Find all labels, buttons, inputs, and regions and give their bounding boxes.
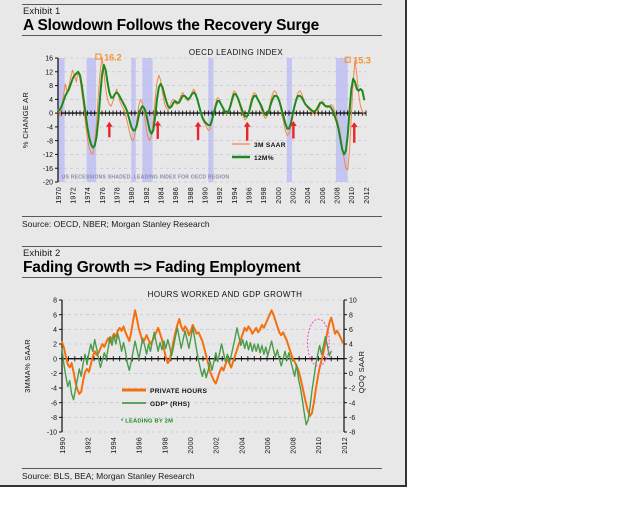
- y-tick-label-right: -2: [349, 386, 355, 393]
- y-tick-label-left: -8: [51, 415, 57, 422]
- x-tick-label: 2012: [340, 437, 349, 454]
- x-tick-label: 1972: [68, 187, 77, 204]
- exhibit-1-source-rule: [22, 216, 382, 217]
- plot-background: [14, 286, 394, 481]
- x-tick-label: 1998: [160, 437, 169, 454]
- y-tick-label-right: -4: [349, 400, 355, 407]
- legend-label: 12M%: [254, 155, 274, 162]
- x-tick-label: 1998: [259, 187, 268, 204]
- x-tick-label: 2006: [318, 187, 327, 204]
- y-tick-label-right: -6: [349, 415, 355, 422]
- y-axis-label-right: QOQ SAAR: [357, 351, 366, 394]
- x-tick-label: 2002: [288, 187, 297, 204]
- x-tick-label: 2008: [332, 187, 341, 204]
- recession-band: [336, 58, 348, 182]
- y-tick-label-right: 6: [349, 327, 353, 334]
- x-tick-label: 2010: [314, 437, 323, 454]
- x-tick-label: 1992: [83, 437, 92, 454]
- recession-band: [87, 58, 97, 182]
- y-tick-label-left: -10: [47, 430, 57, 437]
- x-tick-label: 2006: [263, 437, 272, 454]
- legend-label: GDP* (RHS): [150, 401, 190, 408]
- exhibit-2-label: Exhibit 2: [22, 247, 382, 259]
- oecd-leading-index-plot: 1612840-4-8-12-16-2016.215.3US RECESSION…: [14, 44, 394, 212]
- y-tick-label: -8: [47, 138, 53, 145]
- exhibit-2-chart: 86420-2-4-6-8-101086420-2-4-6-8HOURS WOR…: [14, 286, 394, 481]
- exhibit-1-bottom-rule: [22, 35, 382, 36]
- y-tick-label-left: 6: [53, 312, 57, 319]
- x-tick-label: 1982: [142, 187, 151, 204]
- x-tick-label: 2000: [186, 437, 195, 454]
- chart-footnote: US RECESSIONS SHADED. LEADING INDEX FOR …: [62, 175, 230, 181]
- exhibit-2-source: Source: BLS, BEA; Morgan Stanley Researc…: [22, 471, 194, 481]
- x-tick-label: 1974: [83, 187, 92, 204]
- exhibit-2-source-rule: [22, 468, 382, 469]
- x-tick-label: 1978: [112, 187, 121, 204]
- x-tick-label: 1980: [127, 187, 136, 204]
- callout-label: 16.2: [104, 52, 122, 62]
- x-tick-label: 1970: [54, 187, 63, 204]
- x-tick-label: 1996: [135, 437, 144, 454]
- y-tick-label-left: -6: [51, 400, 57, 407]
- x-tick-label: 1994: [109, 437, 118, 454]
- exhibit-1-chart: 1612840-4-8-12-16-2016.215.3US RECESSION…: [14, 44, 394, 212]
- x-tick-label: 2004: [303, 187, 312, 204]
- y-tick-label-left: 0: [53, 356, 57, 363]
- x-tick-label: 2010: [347, 187, 356, 204]
- document-page: Exhibit 1 A Slowdown Follows the Recover…: [0, 0, 407, 487]
- x-tick-label: 1990: [200, 187, 209, 204]
- y-tick-label-left: -2: [51, 371, 57, 378]
- exhibit-2-bottom-rule: [22, 277, 382, 278]
- x-tick-label: 2004: [237, 437, 246, 454]
- y-tick-label: 4: [49, 97, 53, 104]
- y-axis-label-left: 3MMA% SAAR: [23, 339, 32, 393]
- x-tick-label: 1996: [244, 187, 253, 204]
- y-tick-label: -16: [43, 166, 53, 173]
- x-tick-label: 1992: [215, 187, 224, 204]
- exhibit-2-title: Fading Growth => Fading Employment: [22, 259, 382, 276]
- chart-title: HOURS WORKED AND GDP GROWTH: [148, 290, 303, 299]
- legend-label: 3M SAAR: [254, 142, 286, 149]
- y-tick-label-right: 2: [349, 356, 353, 363]
- callout-label: 15.3: [353, 55, 371, 65]
- hours-worked-gdp-growth-plot: 86420-2-4-6-8-101086420-2-4-6-8HOURS WOR…: [14, 286, 394, 481]
- y-tick-label-left: 4: [53, 327, 57, 334]
- exhibit-1-source: Source: OECD, NBER; Morgan Stanley Resea…: [22, 219, 210, 229]
- y-tick-label: -4: [47, 124, 53, 131]
- exhibit-2-header: Exhibit 2 Fading Growth => Fading Employ…: [22, 246, 382, 278]
- exhibit-1-label: Exhibit 1: [22, 5, 382, 17]
- y-tick-label: 12: [45, 69, 53, 76]
- y-tick-label-left: 8: [53, 298, 57, 305]
- exhibit-1-title: A Slowdown Follows the Recovery Surge: [22, 17, 382, 34]
- y-tick-label: 8: [49, 83, 53, 90]
- legend-label: PRIVATE HOURS: [150, 388, 207, 395]
- x-tick-label: 2012: [362, 187, 371, 204]
- y-tick-label-right: 4: [349, 342, 353, 349]
- x-tick-label: 1988: [186, 187, 195, 204]
- y-tick-label-left: -4: [51, 386, 57, 393]
- y-tick-label-left: 2: [53, 342, 57, 349]
- y-tick-label-right: 10: [349, 298, 357, 305]
- x-tick-label: 1994: [230, 187, 239, 204]
- y-tick-label: -12: [43, 152, 53, 159]
- x-tick-label: 1976: [98, 187, 107, 204]
- chart-footnote: * LEADING BY 2M: [121, 418, 173, 424]
- y-tick-label: 16: [45, 56, 53, 63]
- y-axis-label: % CHANGE AR: [21, 92, 30, 149]
- y-tick-label: 0: [49, 111, 53, 118]
- y-tick-label-right: 0: [349, 371, 353, 378]
- y-tick-label: -20: [43, 180, 53, 187]
- x-tick-label: 2000: [274, 187, 283, 204]
- chart-title: OECD LEADING INDEX: [189, 48, 284, 57]
- x-tick-label: 2002: [212, 437, 221, 454]
- x-tick-label: 1984: [156, 187, 165, 204]
- recession-band: [131, 58, 135, 182]
- exhibit-1-header: Exhibit 1 A Slowdown Follows the Recover…: [22, 4, 382, 36]
- y-tick-label-right: -8: [349, 430, 355, 437]
- y-tick-label-right: 8: [349, 312, 353, 319]
- x-tick-label: 2008: [289, 437, 298, 454]
- x-tick-label: 1990: [58, 437, 67, 454]
- x-tick-label: 1986: [171, 187, 180, 204]
